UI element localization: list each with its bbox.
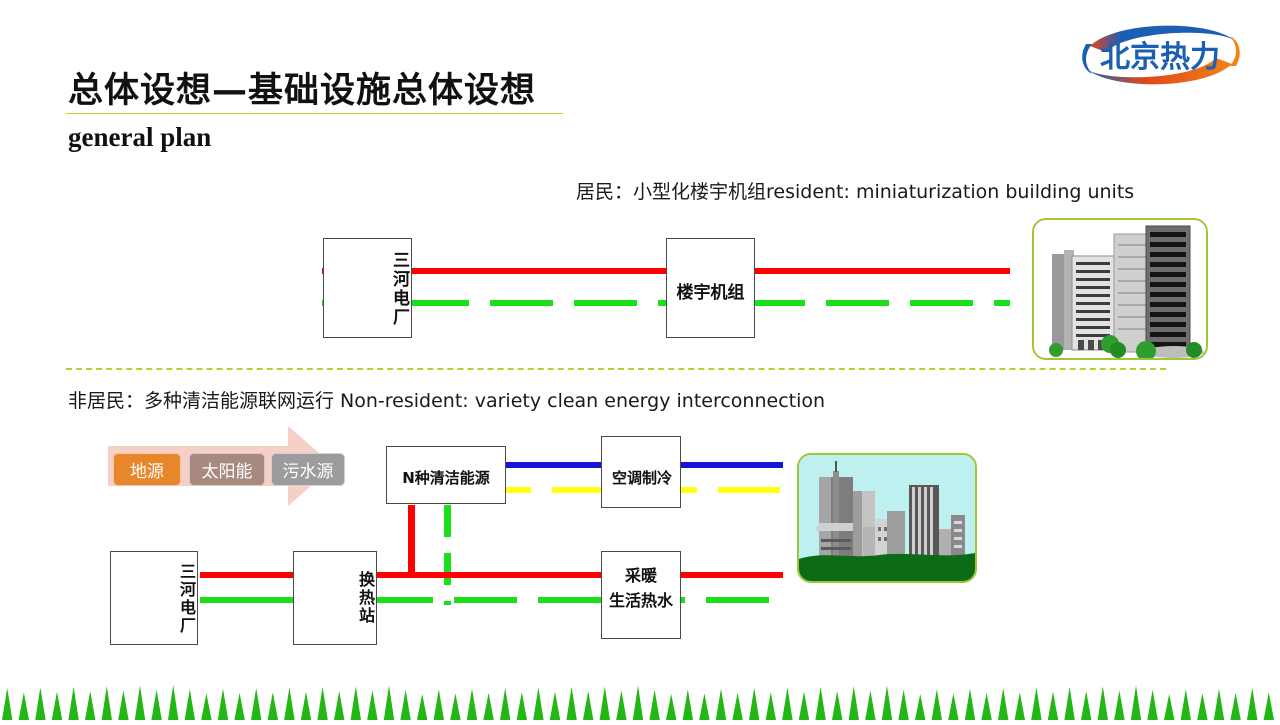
box-label-sanhe-power-plant-top: 三河电厂 — [323, 242, 412, 336]
non-resident-caption: 非居民：多种清洁能源联网运行 Non-resident: variety cle… — [68, 386, 825, 413]
source-tag-sewage[interactable]: 污水源 — [271, 453, 345, 486]
source-tag-sewage-label: 污水源 — [283, 457, 334, 482]
slide-root: 北京热力 总体设想—基础设施总体设想 general plan 居民：小型化楼宇… — [0, 0, 1280, 720]
resident-caption: 居民：小型化楼宇机组resident: miniaturization buil… — [576, 177, 1134, 204]
section-divider — [66, 368, 1166, 370]
box-label-heat-exchange-station: 换热站 — [293, 557, 377, 639]
page-title-en: general plan — [68, 122, 211, 153]
page-title-cn: 总体设想—基础设施总体设想 — [68, 62, 536, 113]
source-tag-solar-label: 太阳能 — [202, 457, 253, 482]
source-tag-ground[interactable]: 地源 — [113, 453, 181, 486]
residential-buildings-picture — [1032, 218, 1208, 360]
title-underline — [66, 113, 563, 114]
bottom-grass-border — [0, 676, 1280, 720]
box-label-domestic-hot-water: 生活热水 — [581, 587, 701, 611]
box-label-building-unit: 楼宇机组 — [658, 278, 763, 303]
box-label-sanhe-power-plant-bottom: 三河电厂 — [110, 555, 198, 643]
pipe-red-heating-supply — [200, 572, 783, 578]
pipe-green-return-lower — [370, 597, 783, 603]
city-skyline-picture — [797, 453, 977, 583]
box-label-n-clean-energy: N种清洁能源 — [384, 467, 508, 488]
box-label-heating: 采暖 — [601, 562, 681, 586]
beijing-heat-power-logo: 北京热力 — [1062, 14, 1258, 96]
source-tag-ground-label: 地源 — [130, 457, 164, 482]
pipe-green-vertical-connector — [444, 505, 451, 605]
box-label-air-conditioning-cooling: 空调制冷 — [596, 467, 688, 488]
logo-text: 北京热力 — [1100, 40, 1220, 75]
pipe-red-vertical-connector — [408, 505, 415, 577]
source-tag-solar[interactable]: 太阳能 — [189, 453, 265, 486]
